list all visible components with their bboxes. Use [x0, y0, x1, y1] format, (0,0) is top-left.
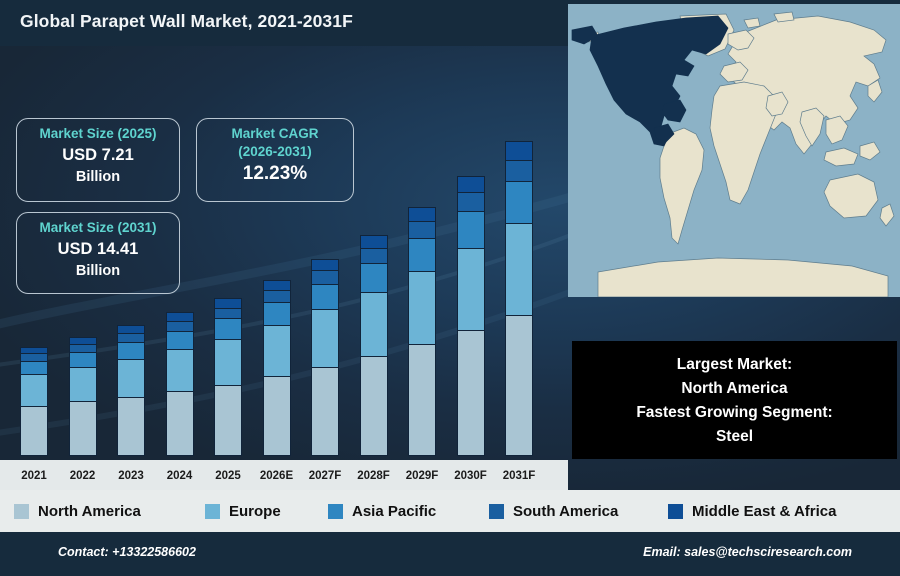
bar-2029F[interactable] — [408, 207, 436, 456]
legend-item-south-america[interactable]: South America — [489, 503, 618, 520]
stat-label: Market Size (2025) — [17, 125, 179, 143]
bar-segment-north-america — [408, 344, 436, 456]
bar-segment-south-america — [117, 333, 145, 342]
bar-segment-north-america — [214, 385, 242, 456]
bar-2026E[interactable] — [263, 280, 291, 456]
x-axis-tick-2031F: 2031F — [491, 470, 547, 482]
bar-2024[interactable] — [166, 312, 194, 456]
legend-item-middle-east-africa[interactable]: Middle East & Africa — [668, 503, 836, 520]
legend-swatch-icon — [205, 504, 220, 519]
infographic-root: Global Parapet Wall Market, 2021-2031F T… — [0, 0, 900, 576]
bar-2030F[interactable] — [457, 176, 485, 456]
stat-value: USD 7.21 — [17, 143, 179, 167]
stat-unit: Billion — [17, 261, 179, 281]
bar-segment-north-america — [360, 356, 388, 456]
bar-segment-middle-east-africa — [360, 235, 388, 248]
footer-bar: Contact: +13322586602 Email: sales@techs… — [0, 532, 900, 576]
bar-2031F[interactable] — [505, 141, 533, 456]
page-title: Global Parapet Wall Market, 2021-2031F — [20, 11, 353, 32]
fastest-segment-value: Steel — [572, 425, 897, 448]
stat-card-market-cagr: Market CAGR (2026-2031) 12.23% — [196, 118, 354, 202]
stat-sublabel: (2026-2031) — [197, 143, 353, 160]
bar-segment-asia-pacific — [360, 263, 388, 292]
bar-segment-north-america — [69, 401, 97, 456]
legend-label: Asia Pacific — [352, 503, 436, 520]
bar-segment-middle-east-africa — [505, 141, 533, 160]
bar-segment-middle-east-africa — [214, 298, 242, 307]
bar-segment-north-america — [166, 391, 194, 456]
bar-segment-asia-pacific — [505, 181, 533, 223]
bar-segment-south-america — [20, 353, 48, 360]
bar-segment-north-america — [311, 367, 339, 456]
legend-label: North America — [38, 503, 141, 520]
legend-item-europe[interactable]: Europe — [205, 503, 281, 520]
bar-segment-europe — [69, 367, 97, 402]
bar-segment-south-america — [263, 290, 291, 302]
fastest-segment-label: Fastest Growing Segment: — [572, 401, 897, 424]
bar-segment-north-america — [505, 315, 533, 456]
stat-value: USD 14.41 — [17, 237, 179, 261]
legend-item-north-america[interactable]: North America — [14, 503, 141, 520]
bar-segment-south-america — [360, 248, 388, 263]
bar-segment-asia-pacific — [166, 331, 194, 349]
legend-label: Middle East & Africa — [692, 503, 836, 520]
bar-segment-middle-east-africa — [311, 259, 339, 271]
bar-segment-north-america — [20, 406, 48, 456]
x-axis: 202120222023202420252026E2027F2028F2029F… — [0, 460, 568, 490]
legend-label: Europe — [229, 503, 281, 520]
world-map — [568, 4, 900, 297]
bar-segment-europe — [20, 374, 48, 406]
bar-segment-middle-east-africa — [457, 176, 485, 193]
legend-swatch-icon — [328, 504, 343, 519]
bar-segment-europe — [311, 309, 339, 366]
bar-2021[interactable] — [20, 347, 48, 456]
bar-segment-asia-pacific — [311, 284, 339, 310]
bar-segment-asia-pacific — [408, 238, 436, 271]
legend-swatch-icon — [14, 504, 29, 519]
bar-segment-europe — [166, 349, 194, 391]
footer-contact: Contact: +13322586602 — [58, 545, 196, 559]
bar-segment-middle-east-africa — [408, 207, 436, 222]
bar-segment-europe — [263, 325, 291, 376]
stat-unit: Billion — [17, 167, 179, 187]
bar-segment-asia-pacific — [20, 361, 48, 375]
bar-segment-europe — [117, 359, 145, 397]
bar-segment-asia-pacific — [263, 302, 291, 325]
bar-segment-europe — [457, 248, 485, 330]
legend-swatch-icon — [668, 504, 683, 519]
bar-segment-europe — [360, 292, 388, 356]
bar-segment-asia-pacific — [69, 352, 97, 367]
bar-segment-south-america — [214, 308, 242, 319]
largest-market-value: North America — [572, 377, 897, 400]
bar-segment-asia-pacific — [117, 342, 145, 359]
bar-segment-south-america — [311, 270, 339, 283]
bar-2027F[interactable] — [311, 259, 339, 456]
bar-segment-middle-east-africa — [69, 337, 97, 344]
legend-label: South America — [513, 503, 618, 520]
bar-2023[interactable] — [117, 325, 145, 456]
bar-segment-europe — [505, 223, 533, 315]
bar-2028F[interactable] — [360, 235, 388, 456]
bar-segment-north-america — [117, 397, 145, 456]
world-map-svg — [568, 4, 900, 297]
stat-label: Market Size (2031) — [17, 219, 179, 237]
stat-card-market-size-2025: Market Size (2025) USD 7.21 Billion — [16, 118, 180, 202]
stat-label: Market CAGR — [197, 125, 353, 143]
bar-segment-south-america — [457, 192, 485, 211]
bar-segment-middle-east-africa — [117, 325, 145, 333]
bar-segment-middle-east-africa — [166, 312, 194, 320]
bar-segment-south-america — [408, 221, 436, 238]
highlight-callout: Largest Market: North America Fastest Gr… — [572, 341, 897, 459]
bar-segment-south-america — [69, 344, 97, 352]
legend-swatch-icon — [489, 504, 504, 519]
bar-segment-asia-pacific — [457, 211, 485, 248]
bar-segment-north-america — [457, 330, 485, 456]
bar-segment-europe — [408, 271, 436, 344]
chart-legend: North AmericaEuropeAsia PacificSouth Ame… — [0, 490, 900, 532]
largest-market-label: Largest Market: — [572, 353, 897, 376]
bar-segment-south-america — [166, 321, 194, 331]
bar-segment-south-america — [505, 160, 533, 181]
stat-card-market-size-2031: Market Size (2031) USD 14.41 Billion — [16, 212, 180, 294]
stat-value: 12.23% — [197, 160, 353, 188]
bar-segment-asia-pacific — [214, 318, 242, 338]
bar-2025[interactable] — [214, 298, 242, 456]
bar-segment-europe — [214, 339, 242, 385]
footer-email: Email: sales@techsciresearch.com — [643, 545, 852, 559]
bar-segment-middle-east-africa — [263, 280, 291, 290]
bar-segment-north-america — [263, 376, 291, 456]
legend-item-asia-pacific[interactable]: Asia Pacific — [328, 503, 436, 520]
bar-2022[interactable] — [69, 337, 97, 456]
